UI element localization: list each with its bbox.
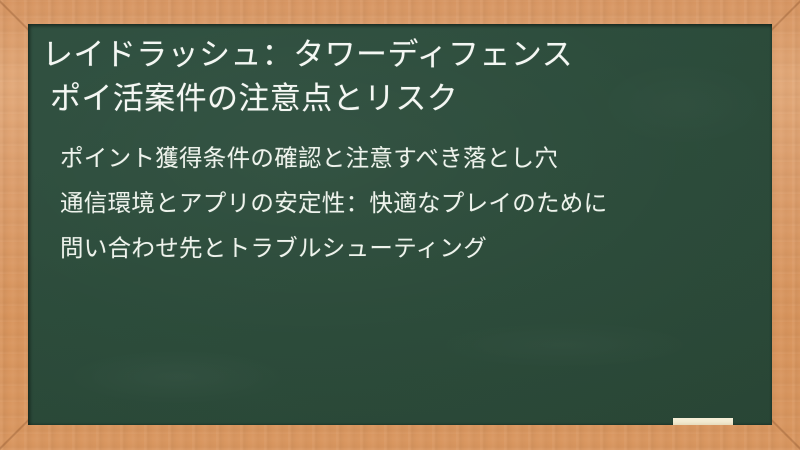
slide-title: レイドラッシュ：タワーディフェンスポイ活案件の注意点とリスク (42, 33, 754, 121)
list-item: 問い合わせ先とトラブルシューティング (60, 233, 720, 263)
list-item: ポイント獲得条件の確認と注意すべき落とし穴 (60, 143, 720, 173)
chalkboard-frame: レイドラッシュ：タワーディフェンスポイ活案件の注意点とリスク ポイント獲得条件の… (0, 0, 800, 450)
list-item: 通信環境とアプリの安定性：快適なプレイのために (60, 188, 720, 218)
chalkboard-surface: レイドラッシュ：タワーディフェンスポイ活案件の注意点とリスク ポイント獲得条件の… (28, 24, 772, 425)
slide-title-line-2: ポイ活案件の注意点とリスク (42, 77, 754, 121)
slide-bullet-list: ポイント獲得条件の確認と注意すべき落とし穴 通信環境とアプリの安定性：快適なプレ… (42, 143, 754, 263)
chalk-stick (673, 418, 733, 425)
slide-content: レイドラッシュ：タワーディフェンスポイ活案件の注意点とリスク ポイント獲得条件の… (28, 24, 772, 263)
slide-title-line-1: レイドラッシュ：タワーディフェンス (42, 37, 573, 73)
